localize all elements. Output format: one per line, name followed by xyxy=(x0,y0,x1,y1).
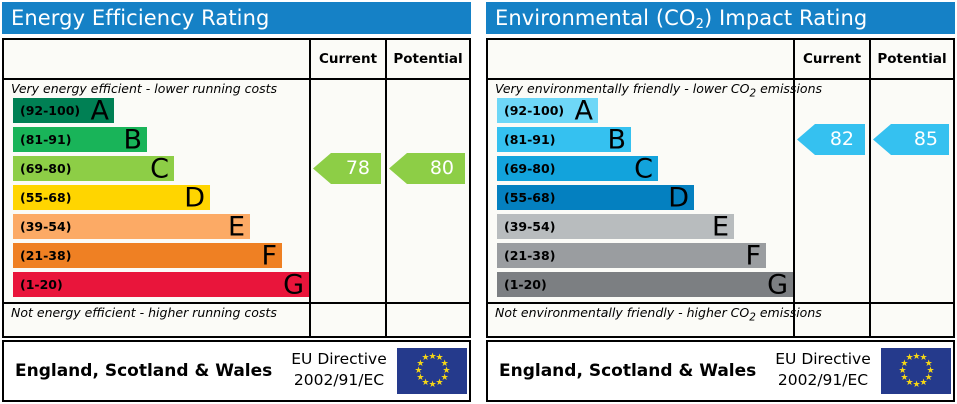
chart-title-energy: Energy Efficiency Rating xyxy=(2,2,471,34)
band-range-label: (69-80) xyxy=(504,156,555,181)
band-list-co2: (92-100)A(81-91)B(69-80)C(55-68)D(39-54)… xyxy=(488,98,793,302)
rating-band-e: (39-54)E xyxy=(497,214,734,239)
caption-top-co2: Very environmentally friendly - lower CO… xyxy=(495,80,822,98)
caption-bottom-subscript: 2 xyxy=(749,312,756,324)
rating-table-energy: Current Potential Very energy efficient … xyxy=(2,38,471,338)
band-letter-label: C xyxy=(634,155,653,182)
rating-band-b: (81-91)B xyxy=(497,127,631,152)
rating-band-f: (21-38)F xyxy=(497,243,766,268)
chart-title-prefix: Environmental (CO xyxy=(495,6,696,30)
band-letter-label: B xyxy=(123,126,142,153)
caption-top-energy: Very energy efficient - lower running co… xyxy=(11,80,277,98)
band-letter-label: B xyxy=(607,126,626,153)
eu-flag-star: ★ xyxy=(900,375,907,382)
footer-co2: England, Scotland & Wales EU Directive 2… xyxy=(486,340,955,402)
rating-band-a: (92-100)A xyxy=(497,98,598,123)
eu-flag-star: ★ xyxy=(899,368,906,375)
band-letter-label: G xyxy=(767,271,788,298)
eu-flag-icon: ★★★★★★★★★★★★ xyxy=(881,348,951,394)
caption-bottom-co2: Not environmentally friendly - higher CO… xyxy=(495,304,822,322)
footer-directive-co2: EU Directive 2002/91/EC xyxy=(769,349,877,391)
energy-efficiency-chart: Energy Efficiency Rating Current Potenti… xyxy=(0,0,473,404)
band-range-label: (92-100) xyxy=(20,98,80,123)
eu-flag-star: ★ xyxy=(422,355,429,362)
chart-title-subscript: 2 xyxy=(696,17,704,32)
potential-rating-arrow-co2: 85 xyxy=(873,124,949,155)
rating-band-g: (1-20)G xyxy=(497,272,793,297)
column-divider-current xyxy=(309,40,311,336)
band-range-label: (81-91) xyxy=(504,127,555,152)
rating-band-c: (69-80)C xyxy=(13,156,174,181)
band-letter-label: F xyxy=(261,242,277,269)
band-letter-label: D xyxy=(668,184,689,211)
band-range-label: (21-38) xyxy=(20,243,71,268)
rating-band-f: (21-38)F xyxy=(13,243,282,268)
footer-region-co2: England, Scotland & Wales xyxy=(499,342,756,400)
band-letter-label: C xyxy=(150,155,169,182)
rating-band-b: (81-91)B xyxy=(13,127,147,152)
rating-table-co2: Current Potential Very environmentally f… xyxy=(486,38,955,338)
co2-impact-chart: Environmental (CO2) Impact Rating Curren… xyxy=(484,0,957,404)
rating-band-d: (55-68)D xyxy=(13,185,210,210)
chart-title-suffix: ) Impact Rating xyxy=(704,6,867,30)
band-range-label: (1-20) xyxy=(20,272,63,297)
caption-bottom-energy: Not energy efficient - higher running co… xyxy=(11,304,277,322)
band-letter-label: D xyxy=(184,184,205,211)
directive-line-2: 2002/91/EC xyxy=(769,370,877,391)
column-header-current: Current xyxy=(311,40,385,78)
column-header-potential: Potential xyxy=(387,40,469,78)
chart-title-co2: Environmental (CO2) Impact Rating xyxy=(486,2,955,34)
band-range-label: (21-38) xyxy=(504,243,555,268)
band-range-label: (81-91) xyxy=(20,127,71,152)
rating-band-e: (39-54)E xyxy=(13,214,250,239)
epc-charts-root: Energy Efficiency Rating Current Potenti… xyxy=(0,0,957,404)
chart-title-text: Energy Efficiency Rating xyxy=(11,6,269,30)
band-letter-label: F xyxy=(745,242,761,269)
column-divider-potential xyxy=(385,40,387,336)
directive-line-1: EU Directive xyxy=(285,349,393,370)
rating-band-c: (69-80)C xyxy=(497,156,658,181)
band-letter-label: E xyxy=(228,213,245,240)
band-range-label: (39-54) xyxy=(20,214,71,239)
band-range-label: (55-68) xyxy=(504,185,555,210)
eu-flag-star: ★ xyxy=(415,368,422,375)
band-range-label: (39-54) xyxy=(504,214,555,239)
column-divider-potential xyxy=(869,40,871,336)
footer-region-energy: England, Scotland & Wales xyxy=(15,342,272,400)
caption-top-prefix: Very environmentally friendly - lower CO xyxy=(495,81,749,96)
band-range-label: (69-80) xyxy=(20,156,71,181)
caption-top-suffix: emissions xyxy=(756,81,822,96)
column-header-potential: Potential xyxy=(871,40,953,78)
rating-band-d: (55-68)D xyxy=(497,185,694,210)
column-header-current: Current xyxy=(795,40,869,78)
rating-band-a: (92-100)A xyxy=(13,98,114,123)
caption-bottom-suffix: emissions xyxy=(756,305,822,320)
band-letter-label: A xyxy=(91,97,109,124)
eu-flag-star: ★ xyxy=(416,375,423,382)
current-rating-arrow-energy: 78 xyxy=(313,153,381,184)
eu-flag-star: ★ xyxy=(906,355,913,362)
eu-flag-icon: ★★★★★★★★★★★★ xyxy=(397,348,467,394)
band-letter-label: G xyxy=(283,271,304,298)
band-range-label: (1-20) xyxy=(504,272,547,297)
band-letter-label: E xyxy=(712,213,729,240)
band-range-label: (55-68) xyxy=(20,185,71,210)
band-letter-label: A xyxy=(575,97,593,124)
potential-rating-arrow-energy: 80 xyxy=(389,153,465,184)
directive-line-2: 2002/91/EC xyxy=(285,370,393,391)
band-list-energy: (92-100)A(81-91)B(69-80)C(55-68)D(39-54)… xyxy=(4,98,309,302)
current-rating-arrow-co2: 82 xyxy=(797,124,865,155)
directive-line-1: EU Directive xyxy=(769,349,877,370)
band-range-label: (92-100) xyxy=(504,98,564,123)
rating-band-g: (1-20)G xyxy=(13,272,309,297)
footer-energy: England, Scotland & Wales EU Directive 2… xyxy=(2,340,471,402)
caption-bottom-prefix: Not environmentally friendly - higher CO xyxy=(495,305,749,320)
footer-directive-energy: EU Directive 2002/91/EC xyxy=(285,349,393,391)
